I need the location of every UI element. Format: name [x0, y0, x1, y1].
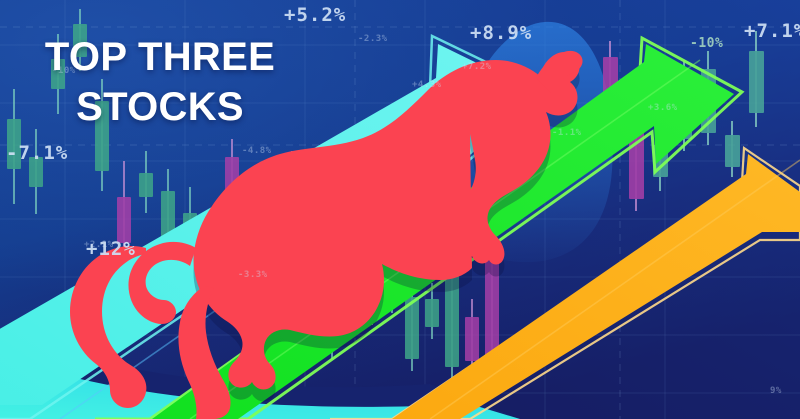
pct-faint-h: +2.1%: [84, 240, 114, 250]
pct-faint-e: +3.6%: [648, 103, 678, 113]
pct-left-up: +12%: [86, 238, 136, 260]
pct-green-arrow: -10%: [690, 36, 723, 51]
pct-top-right: +7.1%: [744, 20, 800, 42]
pct-top-left-up: +5.2%: [284, 4, 346, 26]
poster-canvas: +5.2% +8.9% +7.1% -7.1% +12% -10% -2.3% …: [0, 0, 800, 419]
percent-labels-layer: +5.2% +8.9% +7.1% -7.1% +12% -10% -2.3% …: [0, 0, 800, 419]
pct-faint-i: -3.3%: [238, 270, 268, 280]
pct-faint-f: -10%: [52, 66, 76, 76]
pct-faint-c: +7.2%: [462, 62, 492, 72]
pct-faint-j: 9%: [770, 386, 782, 396]
pct-faint-d: -1.1%: [552, 128, 582, 138]
pct-faint-a: -2.3%: [358, 34, 388, 44]
pct-left-down: -7.1%: [6, 142, 68, 164]
pct-top-mid: +8.9%: [470, 22, 532, 44]
pct-faint-g: -4.8%: [242, 146, 272, 156]
pct-faint-b: +4.3%: [412, 80, 442, 90]
